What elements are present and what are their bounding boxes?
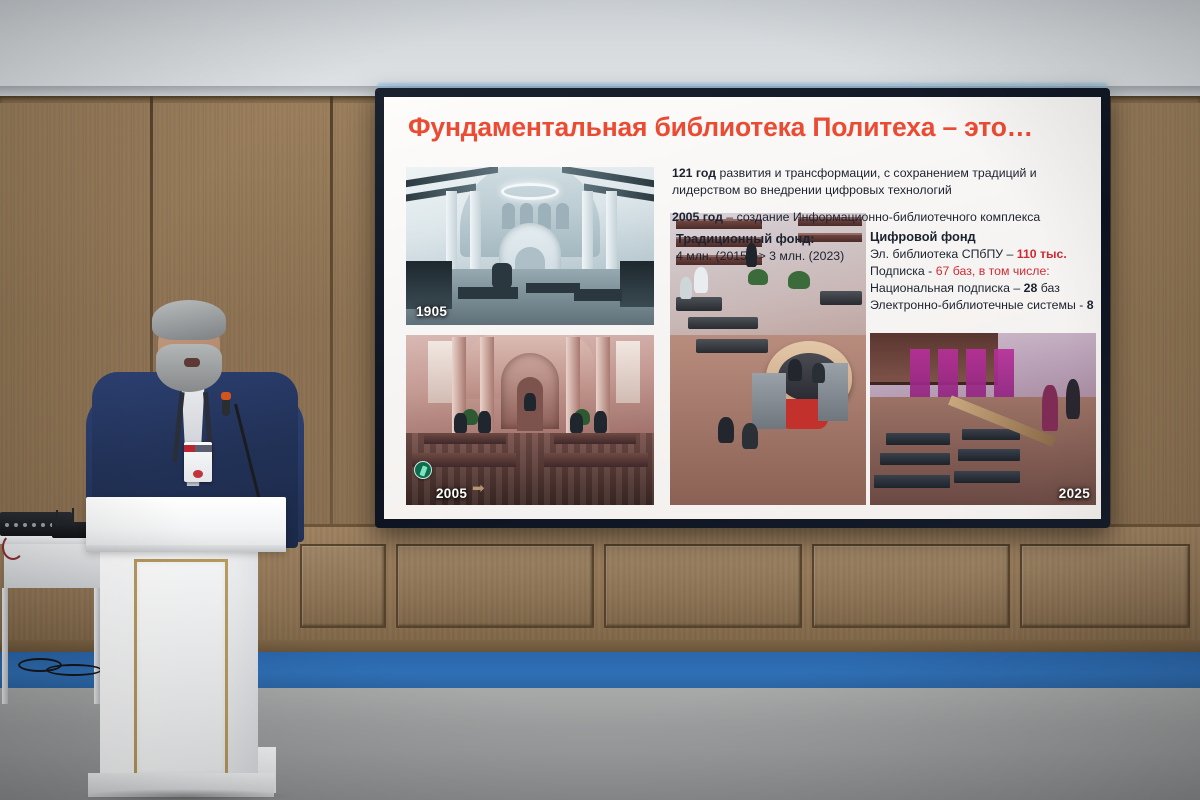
digital-line4-prefix: Электронно-библиотечные системы - [870,298,1087,312]
led-presentation-screen[interactable]: Фундаментальная библиотека Политеха – эт… [375,88,1110,528]
arched-window [502,203,515,229]
statue [492,263,512,289]
arched-window [556,203,569,229]
slide-intro-paragraph: 121 год развития и трансформации, с сохр… [672,165,1096,199]
reader [524,393,536,411]
photo-year-label: 2005 [436,486,467,501]
reading-desk [544,453,648,467]
intro-lead: 121 год [672,166,716,180]
window [428,341,452,403]
podium-desktop-edge [86,545,286,552]
visitor [1066,379,1080,419]
wall-panel [300,544,386,628]
badge-logo [193,470,203,478]
wall-panel [812,544,1010,628]
wall-panel [396,544,594,628]
desk [574,289,622,301]
photo-historic-reading-hall: 1905 [406,167,654,325]
visitor [742,423,758,449]
milestone-rest: – создание Информационно-библиотечного к… [723,210,1040,224]
visitor [718,417,734,443]
reader [478,411,491,433]
digital-line3-suffix: баз [1037,281,1060,295]
desk [526,283,580,293]
desk [954,471,1020,483]
slide-title: Фундаментальная библиотека Политеха – эт… [408,112,1098,143]
cabinet [406,261,452,309]
wall-seam [330,96,333,526]
milestone-lead: 2005 год [672,210,723,224]
podium-shadow [80,789,292,800]
desk [874,475,950,488]
visitor [694,267,708,293]
reader [454,413,467,433]
table [820,291,862,305]
table [688,317,758,329]
intro-line2: лидерством во внедрении цифровых техноло… [672,182,1096,199]
table [676,297,722,311]
ceiling-beam [406,183,476,201]
reader [594,411,607,433]
digital-line3-bold: 28 [1024,281,1038,295]
desk [886,433,950,445]
podium-gold-inset [134,559,228,777]
digital-line1-prefix: Эл. библиотека СПбПУ – [870,247,1017,261]
badge-header [184,445,212,452]
table-leg [2,588,8,704]
column-line: 4 млн. (2015) -> 3 млн. (2023) [676,248,872,265]
reader [570,413,583,433]
digital-line3-prefix: Национальная подписка – [870,281,1024,295]
visitor [788,359,802,381]
visitor [1042,385,1058,431]
plant [788,271,810,289]
conference-badge [184,442,212,482]
ceiling-beam [584,183,654,201]
hair [152,300,226,340]
green-badge-icon [414,461,432,479]
column-heading: Цифровой фонд [870,229,1101,244]
reading-desk [424,433,506,444]
column-digital-fund: Цифровой фонд Эл. библиотека СПбПУ – 110… [870,229,1101,314]
microphone-windscreen [221,392,231,400]
slide-milestone-line: 2005 год – создание Информационно-библио… [672,209,1096,226]
cabinet [620,261,654,307]
slide-content: Фундаментальная библиотека Политеха – эт… [384,97,1101,519]
desk [958,449,1020,461]
intro-rest-line1: развития и трансформации, с сохранением … [716,166,1037,180]
digital-line4-bold: 8 [1087,298,1094,312]
speaker-podium [86,497,286,800]
conference-room-photo: Фундаментальная библиотека Политеха – эт… [0,0,1200,800]
wall-panel [1020,544,1190,628]
reading-desk [554,433,636,444]
mouth [184,358,200,367]
window [616,341,640,403]
cable [2,534,24,560]
plant [748,269,768,285]
chandelier [501,183,559,200]
desk [458,287,518,299]
visitor [812,363,825,383]
photo-year-label: 1905 [416,304,447,319]
antenna [72,508,74,524]
podium-desktop [86,497,286,551]
desk [962,429,1020,440]
arrow-right-icon: ➡ [472,479,485,497]
photo-reading-hall-2005: 2005 ➡ [406,335,654,505]
antenna [56,510,58,526]
photo-year-label: 2025 [1059,486,1090,501]
visitor [680,277,692,299]
divider-panel [752,373,786,429]
digital-line2-prefix: Подписка - [870,264,936,278]
digital-line1-highlight: 110 тыс. [1017,247,1067,261]
column-heading: Традиционный фонд: [676,231,872,246]
ceiling [0,0,1200,96]
table [696,339,768,353]
digital-line2-highlight: 67 баз, в том числе: [936,264,1050,278]
column-traditional-fund: Традиционный фонд: 4 млн. (2015) -> 3 мл… [676,231,872,265]
wall-panel [604,544,802,628]
beard [156,344,222,392]
desk [880,453,950,465]
photo-library-hall-2025: 2025 [870,333,1096,505]
